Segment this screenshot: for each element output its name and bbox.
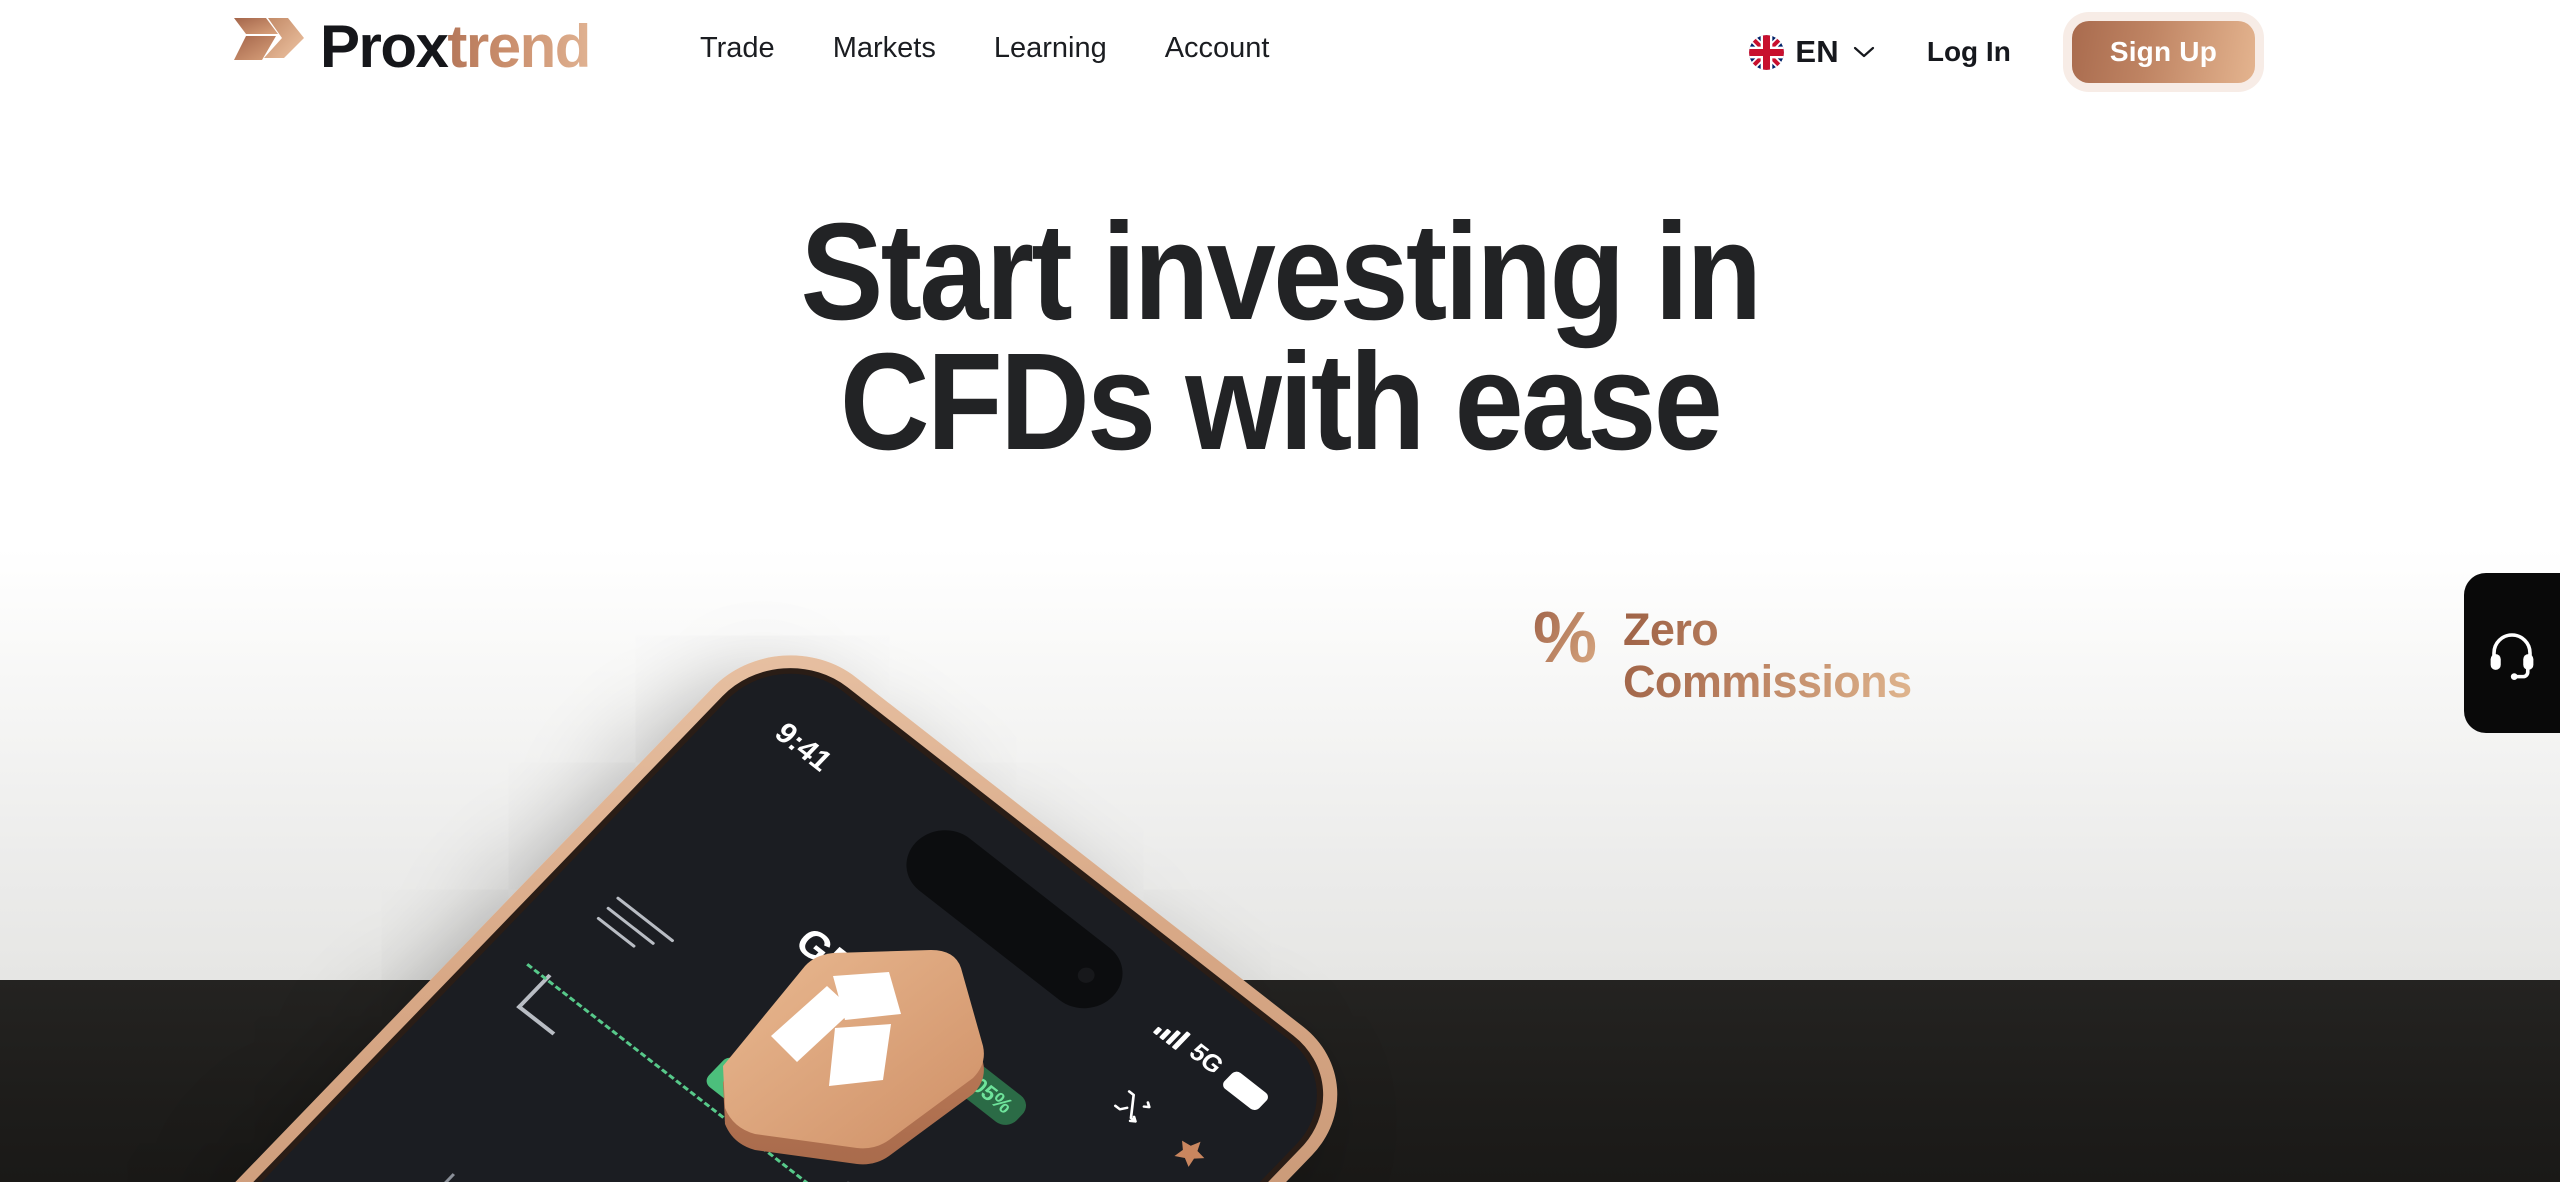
status-bar-time: 9:41 xyxy=(767,717,838,779)
hero-title-line-2: CFDs with ease xyxy=(840,325,1720,479)
phone-screen: 9:41 5G GBPUSD 1.05% 1.16305 xyxy=(0,635,1360,1182)
status-bar-right: 5G xyxy=(1150,1013,1273,1114)
uk-flag-icon xyxy=(1749,35,1784,70)
site-header: Proxtrend Trade Markets Learning Account xyxy=(0,0,2560,104)
brand-name-prefix: Prox xyxy=(320,17,447,77)
battery-icon xyxy=(1221,1069,1271,1112)
header-actions: EN Log In Sign Up xyxy=(1749,12,2264,92)
star-icon[interactable] xyxy=(1165,1129,1216,1175)
percent-icon: % xyxy=(1533,604,1597,672)
support-widget-button[interactable] xyxy=(2464,573,2560,733)
zero-commissions-line-2: Commissions xyxy=(1623,656,1911,707)
nav-item-account[interactable]: Account xyxy=(1165,30,1270,68)
signup-button[interactable]: Sign Up xyxy=(2072,21,2255,83)
nav-item-trade[interactable]: Trade xyxy=(700,30,775,68)
shuffle-icon[interactable] xyxy=(1107,1084,1158,1130)
zero-commissions-badge: % Zero Commissions xyxy=(1533,604,1912,708)
nav-item-learning[interactable]: Learning xyxy=(994,30,1107,68)
phone-mockup-stage: 9:41 5G GBPUSD 1.05% 1.16305 xyxy=(0,548,2560,1182)
network-label: 5G xyxy=(1183,1039,1230,1081)
headset-icon xyxy=(2485,626,2539,680)
brand-wordmark: Proxtrend xyxy=(320,17,590,77)
page-title: Start investing in CFDs with ease xyxy=(128,208,2432,467)
nav-item-markets[interactable]: Markets xyxy=(833,30,936,68)
proxtrend-app-icon-3d xyxy=(693,928,1003,1178)
phone-device: 9:41 5G GBPUSD 1.05% 1.16305 xyxy=(0,618,1379,1182)
proxtrend-arrow-logo-icon xyxy=(232,14,306,80)
zero-commissions-line-1: Zero xyxy=(1623,604,1718,655)
signup-button-ring: Sign Up xyxy=(2063,12,2264,92)
chevron-down-icon xyxy=(1853,45,1875,59)
main-navigation: Trade Markets Learning Account xyxy=(700,30,1270,68)
signal-bars-icon xyxy=(1153,1016,1191,1050)
login-button[interactable]: Log In xyxy=(1927,36,2011,68)
zero-commissions-text: Zero Commissions xyxy=(1623,604,1911,708)
language-code: EN xyxy=(1795,34,1838,70)
hero-section: Start investing in CFDs with ease xyxy=(0,208,2560,467)
app-icon-3d-graphic xyxy=(693,928,1003,1178)
language-selector[interactable]: EN xyxy=(1749,34,1874,70)
brand-logo[interactable]: Proxtrend xyxy=(232,14,590,80)
brand-name-suffix: trend xyxy=(447,17,590,77)
